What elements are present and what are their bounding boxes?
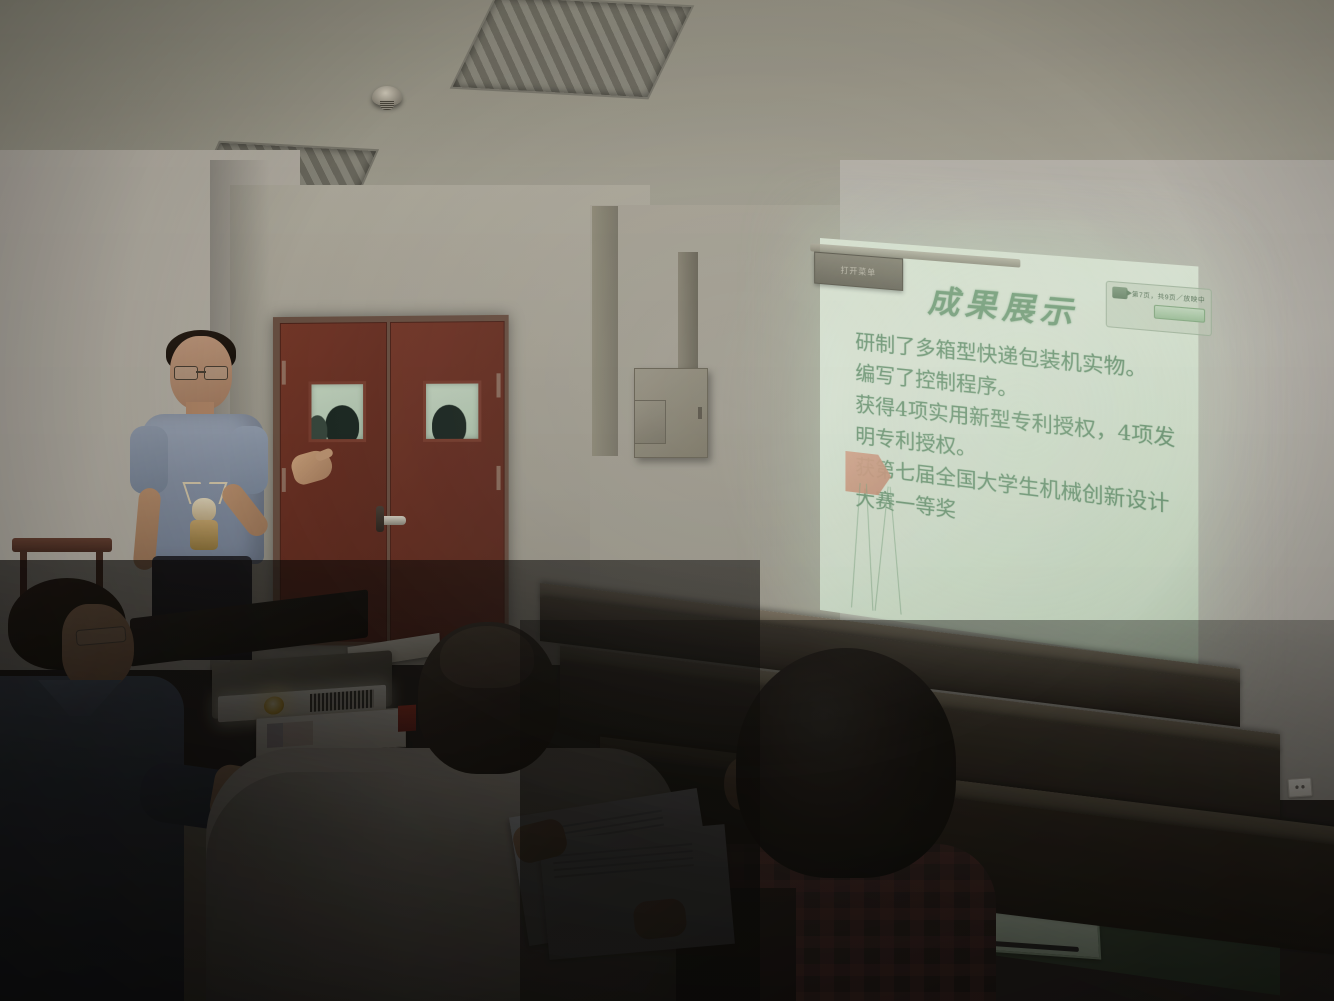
- door-leaf-right[interactable]: [390, 321, 505, 643]
- presentation-status-label: 第7页，共9页／放映中: [1132, 289, 1205, 305]
- electrical-subpanel: [634, 400, 666, 444]
- presentation-status-row: 第7页，共9页／放映中: [1112, 286, 1205, 305]
- document-text-lines: [552, 843, 694, 883]
- person-silhouette: [325, 405, 359, 442]
- reviewer-left-face: [62, 604, 134, 690]
- reviewer-right-hair: [736, 648, 956, 878]
- screen-surface: 打开菜单 第7页，共9页／放映中 成果展示 研制了多箱型快递包装机实物。 编写了…: [820, 238, 1198, 666]
- slide-diagram-lines: [855, 482, 915, 617]
- presentation-toolbar[interactable]: 打开菜单: [814, 252, 903, 291]
- door-vision-panel: [309, 381, 367, 442]
- presenter-sleeve-left: [130, 426, 168, 494]
- seated-reviewer-center: [196, 622, 716, 1001]
- reviewer-center-shadow: [206, 772, 406, 1001]
- presentation-progress-bar[interactable]: [1154, 305, 1205, 323]
- reviewer-left-torso: [0, 676, 184, 1001]
- door-vision-panel: [423, 380, 481, 441]
- electrical-conduit: [678, 252, 698, 377]
- projection-screen: 打开菜单 第7页，共9页／放映中 成果展示 研制了多箱型快递包装机实物。 编写了…: [820, 238, 1198, 666]
- wall-corner-column: [592, 206, 618, 456]
- presentation-toolbar-label: 打开菜单: [841, 264, 877, 278]
- slide-title: 成果展示: [927, 275, 1077, 334]
- presentation-status-widget[interactable]: 第7页，共9页／放映中: [1106, 281, 1212, 337]
- smoke-detector-icon: [372, 86, 402, 106]
- door-hinge: [497, 373, 501, 397]
- person-silhouette: [432, 405, 466, 442]
- reviewer-center-hand: [632, 897, 688, 940]
- reviewer-center-scalp: [440, 626, 534, 688]
- deer-graphic-icon: [180, 480, 228, 550]
- door-hinge: [497, 466, 501, 490]
- deer-head: [192, 498, 216, 522]
- deer-body: [190, 520, 218, 550]
- projector-cast-icon: [1112, 286, 1127, 299]
- photo-scene: 打开菜单 第7页，共9页／放映中 成果展示 研制了多箱型快递包装机实物。 编写了…: [0, 0, 1334, 1001]
- power-outlet-icon: [1287, 777, 1312, 798]
- documents-sheet[interactable]: [539, 824, 735, 960]
- recessed-louver-light-icon: [450, 0, 695, 99]
- glasses-icon: [174, 366, 228, 378]
- door-handle[interactable]: [380, 516, 406, 525]
- person-silhouette: [309, 415, 328, 442]
